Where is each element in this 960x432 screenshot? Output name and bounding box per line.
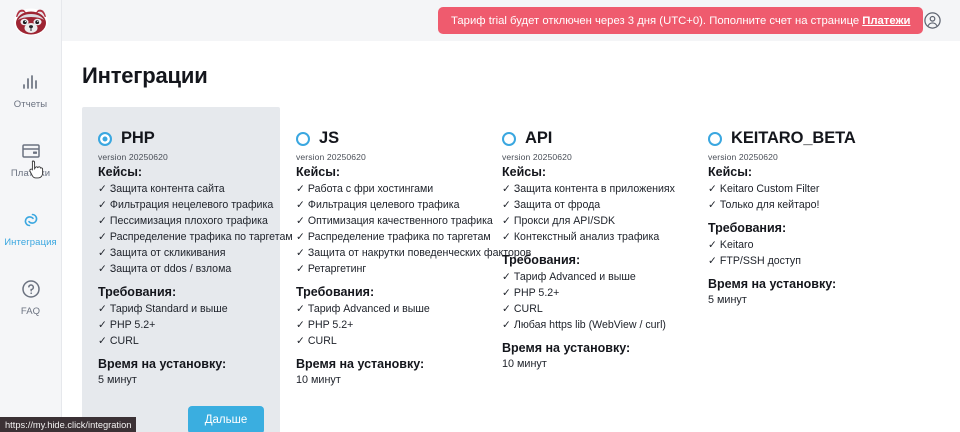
section-title: Кейсы: bbox=[296, 165, 470, 179]
section-title: Кейсы: bbox=[98, 165, 264, 179]
check-icon: ✓ bbox=[296, 199, 305, 211]
check-icon: ✓ bbox=[296, 231, 305, 243]
card-header: PHP bbox=[98, 129, 264, 148]
check-icon: ✓ bbox=[98, 335, 107, 347]
feature-item: ✓CURL bbox=[98, 333, 264, 349]
sidebar-item-platezhi[interactable]: Платежи bbox=[0, 130, 61, 188]
check-icon: ✓ bbox=[296, 183, 305, 195]
check-icon: ✓ bbox=[502, 303, 511, 315]
integration-card[interactable]: JSversion 20250620Кейсы:✓Работа с фри хо… bbox=[280, 107, 486, 404]
check-icon: ✓ bbox=[708, 239, 717, 251]
trial-alert-banner: Тариф trial будет отключен через 3 дня (… bbox=[438, 7, 923, 34]
feature-label: CURL bbox=[308, 335, 337, 347]
feature-label: Распределение трафика по таргетам bbox=[110, 231, 293, 243]
install-time-value: 10 минут bbox=[502, 357, 676, 372]
section-title: Требования: bbox=[708, 221, 882, 235]
card-title: PHP bbox=[121, 129, 155, 148]
check-icon: ✓ bbox=[502, 287, 511, 299]
check-icon: ✓ bbox=[296, 263, 305, 275]
card-header: KEITARO_BETA bbox=[708, 129, 882, 148]
check-icon: ✓ bbox=[502, 231, 511, 243]
feature-label: Тариф Advanced и выше bbox=[308, 303, 430, 315]
alert-text: Тариф trial будет отключен через 3 дня (… bbox=[451, 15, 859, 27]
feature-item: ✓Защита от фрода bbox=[502, 197, 676, 213]
feature-item: ✓Пессимизация плохого трафика bbox=[98, 213, 264, 229]
feature-label: Фильтрация нецелевого трафика bbox=[110, 199, 273, 211]
alert-payments-link[interactable]: Платежи bbox=[862, 15, 910, 27]
page-title: Интеграции bbox=[82, 63, 960, 89]
card-header: API bbox=[502, 129, 676, 148]
radio-button[interactable] bbox=[296, 132, 310, 146]
integration-card[interactable]: PHPversion 20250620Кейсы:✓Защита контент… bbox=[82, 107, 280, 432]
feature-item: ✓CURL bbox=[296, 333, 470, 349]
feature-item: ✓Прокси для API/SDK bbox=[502, 213, 676, 229]
question-circle-icon bbox=[18, 277, 44, 301]
feature-label: PHP 5.2+ bbox=[308, 319, 353, 331]
check-icon: ✓ bbox=[98, 303, 107, 315]
check-icon: ✓ bbox=[98, 263, 107, 275]
feature-label: Keitaro Custom Filter bbox=[720, 183, 820, 195]
raccoon-logo[interactable] bbox=[11, 3, 51, 39]
install-time-value: 5 минут bbox=[98, 373, 264, 388]
sidebar-item-label: FAQ bbox=[21, 306, 40, 317]
check-icon: ✓ bbox=[502, 183, 511, 195]
sidebar: Отчеты Платежи bbox=[0, 0, 62, 432]
feature-item: ✓Тариф Advanced и выше bbox=[296, 301, 470, 317]
feature-item: ✓PHP 5.2+ bbox=[98, 317, 264, 333]
radio-button[interactable] bbox=[502, 132, 516, 146]
feature-item: ✓Защита от накрутки поведенческих фактор… bbox=[296, 245, 470, 261]
feature-item: ✓PHP 5.2+ bbox=[296, 317, 470, 333]
sidebar-item-label: Интеграция bbox=[4, 237, 57, 248]
top-bar: RU bbox=[62, 0, 960, 41]
feature-item: ✓Любая https lib (WebView / curl) bbox=[502, 317, 676, 333]
sidebar-item-label: Платежи bbox=[11, 168, 50, 179]
check-icon: ✓ bbox=[296, 215, 305, 227]
check-icon: ✓ bbox=[708, 199, 717, 211]
sidebar-item-faq[interactable]: FAQ bbox=[0, 268, 61, 326]
check-icon: ✓ bbox=[98, 247, 107, 259]
feature-label: Контекстный анализ трафика bbox=[514, 231, 659, 243]
integration-card[interactable]: KEITARO_BETAversion 20250620Кейсы:✓Keita… bbox=[692, 107, 898, 395]
card-version: version 20250620 bbox=[98, 152, 264, 162]
feature-label: Любая https lib (WebView / curl) bbox=[514, 319, 666, 331]
sidebar-item-otchety[interactable]: Отчеты bbox=[0, 61, 61, 119]
card-version: version 20250620 bbox=[296, 152, 470, 162]
feature-item: ✓Оптимизация качественного трафика bbox=[296, 213, 470, 229]
check-icon: ✓ bbox=[98, 231, 107, 243]
feature-item: ✓Защита контента сайта bbox=[98, 181, 264, 197]
feature-label: Работа с фри хостингами bbox=[308, 183, 433, 195]
install-time-value: 10 минут bbox=[296, 373, 470, 388]
radio-button[interactable] bbox=[708, 132, 722, 146]
feature-label: FTP/SSH доступ bbox=[720, 255, 801, 267]
main-content: Интеграции PHPversion 20250620Кейсы:✓Защ… bbox=[62, 41, 960, 432]
feature-item: ✓Защита от скликивания bbox=[98, 245, 264, 261]
feature-label: Защита от ddos / взлома bbox=[110, 263, 231, 275]
next-button[interactable]: Дальше bbox=[188, 406, 264, 432]
feature-item: ✓Работа с фри хостингами bbox=[296, 181, 470, 197]
feature-label: Только для кейтаро! bbox=[720, 199, 820, 211]
section-title: Требования: bbox=[98, 285, 264, 299]
integration-icon bbox=[18, 208, 44, 232]
card-title: API bbox=[525, 129, 552, 148]
feature-label: Тариф Standard и выше bbox=[110, 303, 228, 315]
feature-label: Защита от фрода bbox=[514, 199, 600, 211]
sidebar-item-label: Отчеты bbox=[14, 99, 47, 110]
feature-label: CURL bbox=[514, 303, 543, 315]
check-icon: ✓ bbox=[708, 183, 717, 195]
feature-label: PHP 5.2+ bbox=[514, 287, 559, 299]
integration-cards: PHPversion 20250620Кейсы:✓Защита контент… bbox=[82, 107, 960, 432]
feature-label: Прокси для API/SDK bbox=[514, 215, 615, 227]
app-root: Отчеты Платежи bbox=[0, 0, 960, 432]
card-version: version 20250620 bbox=[502, 152, 676, 162]
card-title: JS bbox=[319, 129, 339, 148]
check-icon: ✓ bbox=[502, 319, 511, 331]
radio-button[interactable] bbox=[98, 132, 112, 146]
feature-item: ✓FTP/SSH доступ bbox=[708, 253, 882, 269]
feature-item: ✓Тариф Standard и выше bbox=[98, 301, 264, 317]
card-header: JS bbox=[296, 129, 470, 148]
status-bar-url: https://my.hide.click/integration bbox=[0, 417, 136, 432]
check-icon: ✓ bbox=[708, 255, 717, 267]
feature-label: Пессимизация плохого трафика bbox=[110, 215, 268, 227]
feature-label: Защита контента сайта bbox=[110, 183, 225, 195]
feature-label: Оптимизация качественного трафика bbox=[308, 215, 493, 227]
check-icon: ✓ bbox=[296, 247, 305, 259]
sidebar-item-integraciya[interactable]: Интеграция bbox=[0, 199, 61, 257]
feature-item: ✓Keitaro bbox=[708, 237, 882, 253]
section-title: Кейсы: bbox=[502, 165, 676, 179]
section-title: Время на установку: bbox=[502, 341, 676, 355]
check-icon: ✓ bbox=[98, 215, 107, 227]
feature-label: Ретаргетинг bbox=[308, 263, 366, 275]
feature-item: ✓Фильтрация целевого трафика bbox=[296, 197, 470, 213]
check-icon: ✓ bbox=[296, 319, 305, 331]
section-title: Требования: bbox=[502, 253, 676, 267]
feature-label: Распределение трафика по таргетам bbox=[308, 231, 491, 243]
feature-item: ✓CURL bbox=[502, 301, 676, 317]
feature-label: CURL bbox=[110, 335, 139, 347]
card-version: version 20250620 bbox=[708, 152, 882, 162]
install-time-value: 5 минут bbox=[708, 293, 882, 308]
section-title: Время на установку: bbox=[98, 357, 264, 371]
feature-item: ✓Защита контента в приложениях bbox=[502, 181, 676, 197]
feature-item: ✓Только для кейтаро! bbox=[708, 197, 882, 213]
user-avatar-icon[interactable] bbox=[922, 11, 942, 31]
section-title: Требования: bbox=[296, 285, 470, 299]
feature-item: ✓Тариф Advanced и выше bbox=[502, 269, 676, 285]
section-title: Время на установку: bbox=[708, 277, 882, 291]
check-icon: ✓ bbox=[296, 335, 305, 347]
feature-label: Защита от скликивания bbox=[110, 247, 226, 259]
feature-label: Keitaro bbox=[720, 239, 754, 251]
feature-label: Тариф Advanced и выше bbox=[514, 271, 636, 283]
feature-item: ✓Распределение трафика по таргетам bbox=[98, 229, 264, 245]
check-icon: ✓ bbox=[502, 215, 511, 227]
section-title: Время на установку: bbox=[296, 357, 470, 371]
check-icon: ✓ bbox=[502, 199, 511, 211]
card-icon bbox=[18, 139, 44, 163]
feature-item: ✓Фильтрация нецелевого трафика bbox=[98, 197, 264, 213]
feature-item: ✓Контекстный анализ трафика bbox=[502, 229, 676, 245]
integration-card[interactable]: APIversion 20250620Кейсы:✓Защита контент… bbox=[486, 107, 692, 395]
card-title: KEITARO_BETA bbox=[731, 129, 856, 148]
feature-label: Фильтрация целевого трафика bbox=[308, 199, 460, 211]
check-icon: ✓ bbox=[296, 303, 305, 315]
sidebar-nav: Отчеты Платежи bbox=[0, 61, 61, 337]
bar-chart-icon bbox=[18, 70, 44, 94]
feature-item: ✓Защита от ddos / взлома bbox=[98, 261, 264, 277]
feature-item: ✓PHP 5.2+ bbox=[502, 285, 676, 301]
feature-item: ✓Распределение трафика по таргетам bbox=[296, 229, 470, 245]
check-icon: ✓ bbox=[98, 319, 107, 331]
section-title: Кейсы: bbox=[708, 165, 882, 179]
feature-item: ✓Keitaro Custom Filter bbox=[708, 181, 882, 197]
feature-label: PHP 5.2+ bbox=[110, 319, 155, 331]
feature-label: Защита контента в приложениях bbox=[514, 183, 675, 195]
check-icon: ✓ bbox=[502, 271, 511, 283]
feature-item: ✓Ретаргетинг bbox=[296, 261, 470, 277]
check-icon: ✓ bbox=[98, 183, 107, 195]
check-icon: ✓ bbox=[98, 199, 107, 211]
